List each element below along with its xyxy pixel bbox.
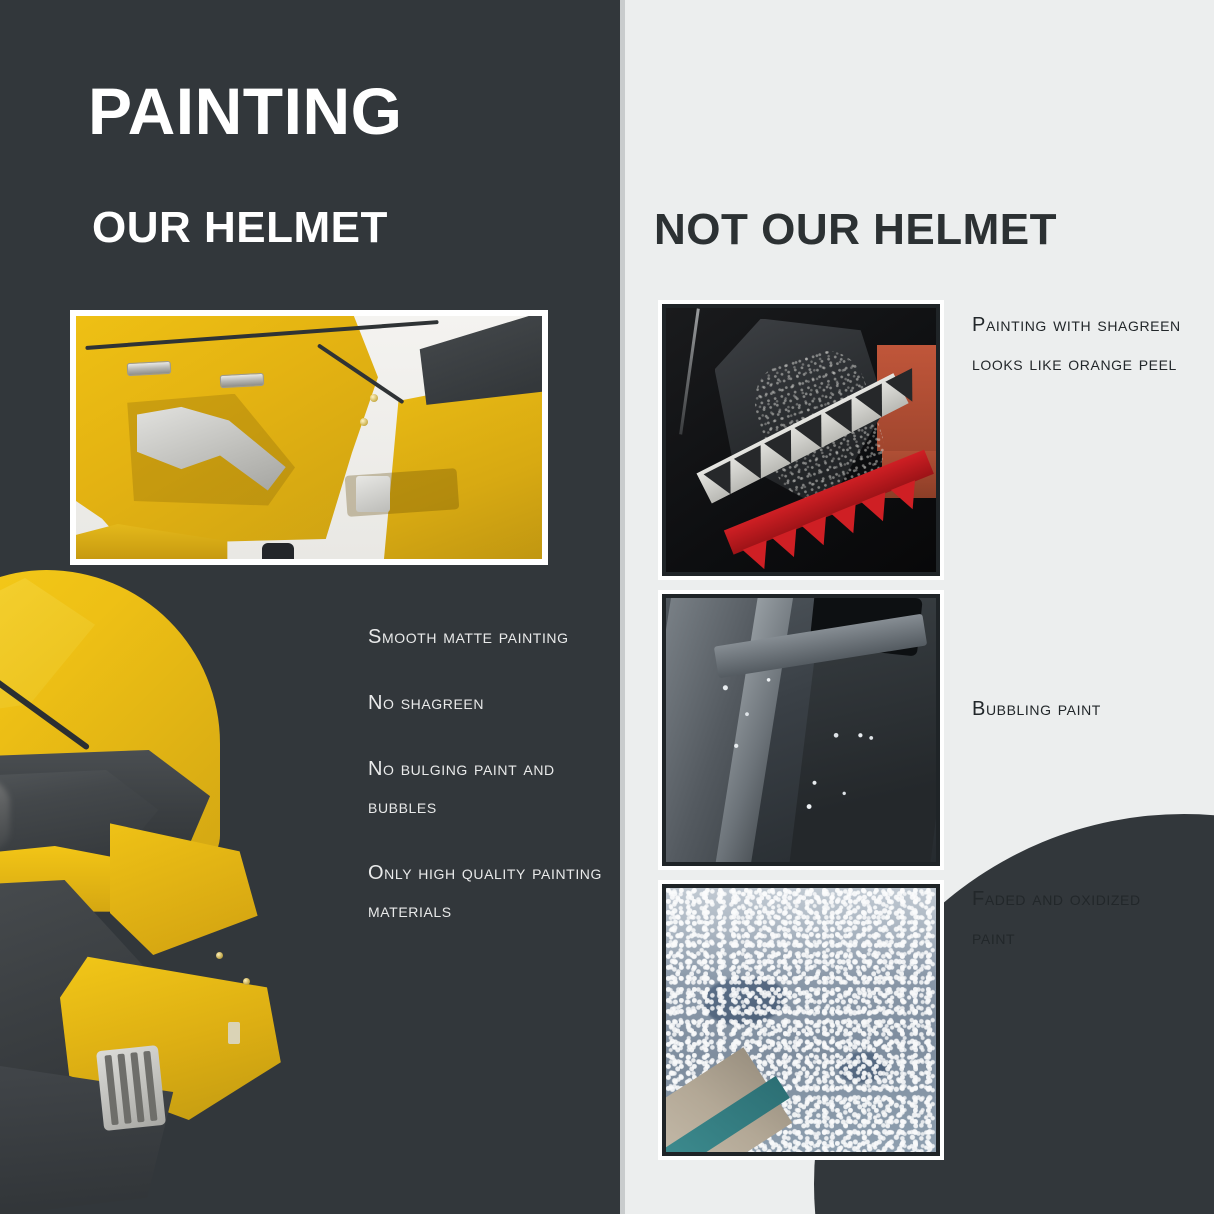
defect-photo-shagreen [658,300,944,580]
our-helmet-detail-photo [70,310,548,565]
panel-divider [620,0,625,1214]
helmet-pin-2 [220,373,265,388]
helmet-rivet-1 [216,952,223,959]
defect-photo-shagreen-image [662,304,940,576]
vent-bar [130,1052,144,1122]
feature-item-4: Only high quality painting materials [368,854,603,930]
page-title: PAINTING [88,78,402,144]
poster-canvas: PAINTING OUR HELMET [0,0,1214,1214]
defect-photo-bubbling-image [662,594,940,866]
helmet-display-stand [262,543,294,559]
helmet-rivet-2 [243,978,250,985]
defect-row-shagreen: Painting with shagreen looks like orange… [658,300,1188,580]
defect-caption-oxidized: Faded and oxidized paint [944,880,1188,958]
vent-bar [117,1054,131,1124]
helmet-label-tag [228,1022,240,1044]
vent-bar [143,1051,157,1121]
defect-photo-oxidized [658,880,944,1160]
our-helmet-hero-photo [0,560,340,1214]
defect-photo-bubbling [658,590,944,870]
feature-item-3: No bulging paint and bubbles [368,750,603,826]
left-subtitle: OUR HELMET [92,206,388,250]
defect-photo-oxidized-image [662,884,940,1156]
our-helmet-feature-list: Smooth matte painting No shagreen No bul… [368,618,603,930]
our-helmet-detail-photo-image [76,316,542,559]
defect-caption-bubbling: Bubbling paint [944,590,1188,729]
helmet-screw-1 [370,394,378,402]
vent-bar [104,1055,118,1125]
not-our-helmet-defect-list: Painting with shagreen looks like orange… [658,300,1188,1170]
defect-caption-shagreen: Painting with shagreen looks like orange… [944,300,1188,384]
right-title: NOT OUR HELMET [654,208,1057,252]
feature-item-1: Smooth matte painting [368,618,603,656]
helmet-metal-clip [356,476,390,512]
helmet-vent-grille [96,1045,166,1131]
paint-bubbles [666,598,936,862]
defect-row-bubbling: Bubbling paint [658,590,1188,870]
helmet-pin-1 [127,361,172,376]
defect-row-oxidized: Faded and oxidized paint [658,880,1188,1160]
feature-item-2: No shagreen [368,684,603,722]
